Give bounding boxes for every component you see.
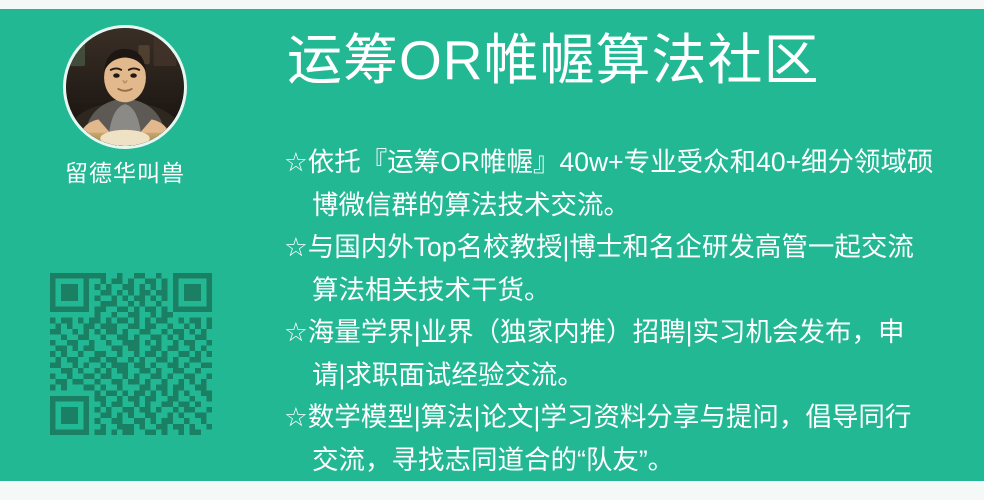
list-item: ☆数学模型|算法|论文|学习资料分享与提问，倡导同行交流，寻找志同道合的“队友”… xyxy=(284,396,936,481)
avatar-display-name: 留德华叫兽 xyxy=(0,159,250,187)
avatar xyxy=(63,25,187,149)
list-item: ☆依托『运筹OR帷幄』40w+专业受众和40+细分领域硕博微信群的算法技术交流。 xyxy=(284,141,936,226)
list-item-text: 数学模型|算法|论文|学习资料分享与提问，倡导同行交流，寻找志同道合的“队友”。 xyxy=(308,402,912,475)
list-item: ☆海量学界|业界（独家内推）招聘|实习机会发布，申请|求职面试经验交流。 xyxy=(284,311,936,396)
list-item: ☆与国内外Top名校教授|博士和名企研发高管一起交流算法相关技术干货。 xyxy=(284,226,936,311)
star-icon: ☆ xyxy=(284,317,308,347)
feature-list: ☆依托『运筹OR帷幄』40w+专业受众和40+细分领域硕博微信群的算法技术交流。… xyxy=(284,141,936,481)
list-item-text: 海量学界|业界（独家内推）招聘|实习机会发布，申请|求职面试经验交流。 xyxy=(308,317,905,390)
star-icon: ☆ xyxy=(284,147,308,177)
content-column: 运筹OR帷幄算法社区 ☆依托『运筹OR帷幄』40w+专业受众和40+细分领域硕博… xyxy=(262,9,984,481)
list-item-text: 依托『运筹OR帷幄』40w+专业受众和40+细分领域硕博微信群的算法技术交流。 xyxy=(308,147,934,220)
list-item-text: 与国内外Top名校教授|博士和名企研发高管一起交流算法相关技术干货。 xyxy=(308,232,914,305)
promo-poster: 留德华叫兽 运筹OR帷幄算法社区 ☆依托『运筹OR帷幄』40w+专业受众和40+… xyxy=(0,0,984,500)
page-title: 运筹OR帷幄算法社区 xyxy=(287,28,820,92)
star-icon: ☆ xyxy=(284,232,308,262)
wechat-qr-code[interactable] xyxy=(50,273,212,435)
avatar-photo xyxy=(66,28,184,146)
profile-column: 留德华叫兽 xyxy=(0,9,262,481)
star-icon: ☆ xyxy=(284,402,308,432)
